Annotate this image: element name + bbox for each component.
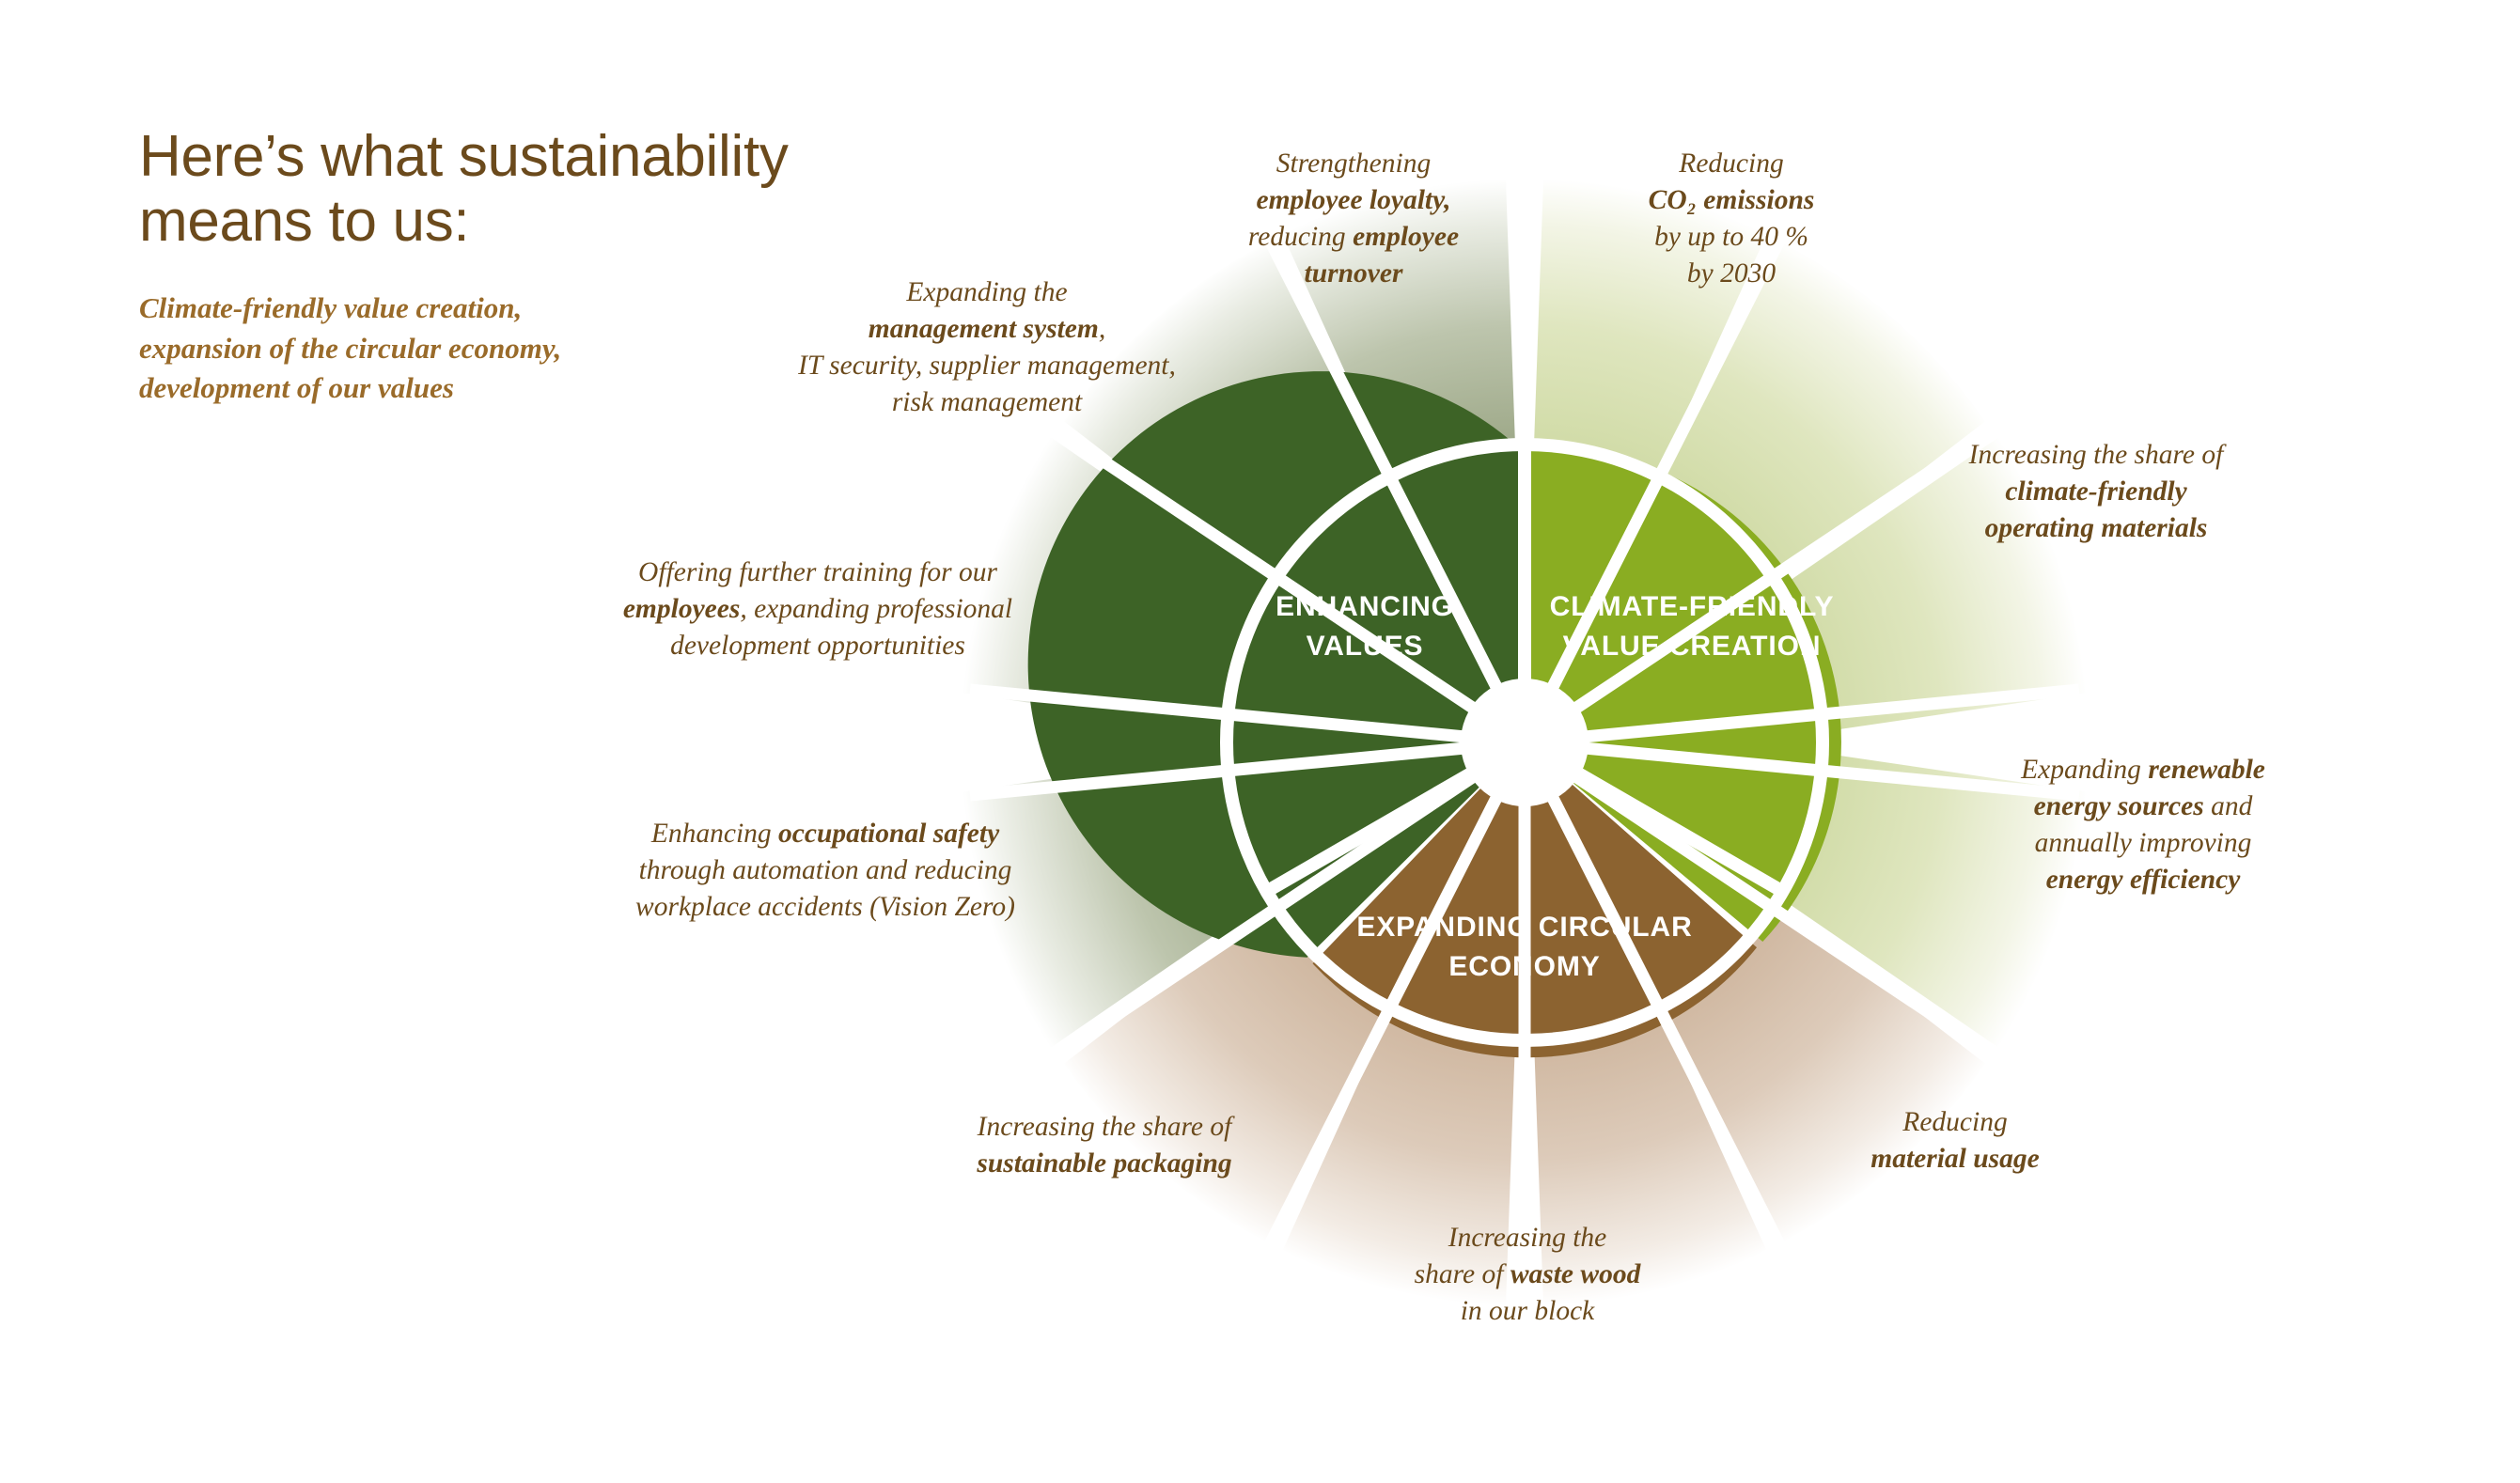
petal-label-renewable-energy: Expanding renewableenergy sources andann… [1964,752,2322,898]
petal-label-occupational-safety: Enhancing occupational safetythrough aut… [590,816,1060,926]
core-label-climate-friendly-line2: VALUE CREATION [1563,631,1822,662]
core-label-circular-economy-line2: ECONOMY [1448,951,1600,982]
core-label-enhancing-values-line2: VALUES [1307,631,1424,662]
core-label-climate-friendly-line1: CLIMATE-FRIENDLY [1550,591,1835,622]
petal-label-material-usage: Reducingmaterial usage [1777,1104,2134,1178]
petal-label-further-training: Offering further training for ouremploye… [583,554,1053,664]
core-label-enhancing-values-line1: ENHANCING [1276,591,1454,622]
core-label-circular-economy-line1: EXPANDING CIRCULAR [1356,912,1692,943]
petal-label-employee-loyalty: Strengtheningemployee loyalty,reducing e… [1213,146,1495,292]
petal-label-sustainable-packaging: Increasing the share ofsustainable packa… [926,1109,1283,1182]
petal-label-management-system: Expanding themanagement system,IT securi… [752,274,1222,421]
petal-label-waste-wood: Increasing theshare of waste woodin our … [1368,1220,1687,1330]
petal-label-operating-materials: Increasing the share ofclimate-friendlyo… [1908,437,2284,547]
center-hub [1461,679,1589,806]
diagram-canvas: Here’s what sustainability means to us: … [0,0,2520,1483]
petal-label-co2-emissions: ReducingCO₂ emissionsby up to 40 %by 203… [1590,146,1872,292]
